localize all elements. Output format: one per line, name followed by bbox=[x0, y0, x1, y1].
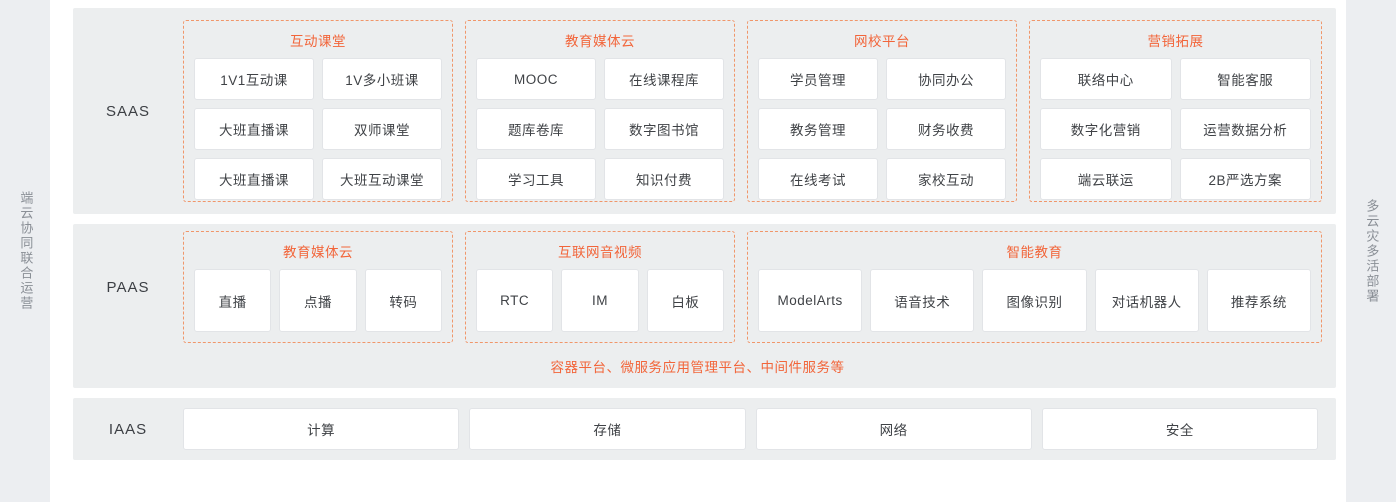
layer-paas-label: PAAS bbox=[73, 279, 183, 296]
group-tiles: MOOC 在线课程库 题库卷库 数字图书馆 学习工具 知识付费 bbox=[476, 58, 724, 200]
group-tiles: ModelArts 语音技术 图像识别 对话机器人 推荐系统 bbox=[758, 269, 1311, 332]
tile[interactable]: 运营数据分析 bbox=[1180, 108, 1312, 150]
layers-stack: SAAS 互动课堂 1V1互动课 1V多小班课 大班直播课 双师课堂 大班直播课… bbox=[63, 0, 1346, 502]
paas-footnote: 容器平台、微服务应用管理平台、中间件服务等 bbox=[73, 350, 1322, 388]
group-title: 网校平台 bbox=[758, 30, 1006, 50]
tile[interactable]: 存储 bbox=[469, 408, 745, 450]
tile[interactable]: 双师课堂 bbox=[322, 108, 442, 150]
layer-iaas-label: IAAS bbox=[73, 421, 183, 438]
tile[interactable]: 白板 bbox=[647, 269, 724, 332]
left-banner-text: 端云协同联合运营 bbox=[14, 191, 37, 311]
tile[interactable]: 1V多小班课 bbox=[322, 58, 442, 100]
layer-paas: PAAS 教育媒体云 直播 点播 转码 互联网音视频 RTC bbox=[73, 224, 1336, 388]
tile[interactable]: 安全 bbox=[1042, 408, 1318, 450]
right-banner-text: 多云灾多活部署 bbox=[1360, 199, 1383, 304]
group-tiles: RTC IM 白板 bbox=[476, 269, 724, 332]
tile[interactable]: 对话机器人 bbox=[1095, 269, 1199, 332]
tile[interactable]: 教务管理 bbox=[758, 108, 878, 150]
group-title: 互动课堂 bbox=[194, 30, 442, 50]
tile[interactable]: 推荐系统 bbox=[1207, 269, 1311, 332]
group-tiles: 1V1互动课 1V多小班课 大班直播课 双师课堂 大班直播课 大班互动课堂 bbox=[194, 58, 442, 200]
group-paas-0: 教育媒体云 直播 点播 转码 bbox=[183, 231, 453, 343]
tile[interactable]: 直播 bbox=[194, 269, 271, 332]
tile[interactable]: 协同办公 bbox=[886, 58, 1006, 100]
group-tiles: 联络中心 智能客服 数字化营销 运营数据分析 端云联运 2B严选方案 bbox=[1040, 58, 1311, 200]
group-title: 教育媒体云 bbox=[194, 241, 442, 261]
tile[interactable]: 网络 bbox=[756, 408, 1032, 450]
tile[interactable]: 在线考试 bbox=[758, 158, 878, 200]
layer-saas-groups: 互动课堂 1V1互动课 1V多小班课 大班直播课 双师课堂 大班直播课 大班互动… bbox=[183, 20, 1322, 202]
group-saas-0: 互动课堂 1V1互动课 1V多小班课 大班直播课 双师课堂 大班直播课 大班互动… bbox=[183, 20, 453, 202]
tile[interactable]: 联络中心 bbox=[1040, 58, 1172, 100]
layer-iaas-tiles: 计算 存储 网络 安全 bbox=[183, 408, 1322, 450]
tile[interactable]: 语音技术 bbox=[870, 269, 974, 332]
group-saas-2: 网校平台 学员管理 协同办公 教务管理 财务收费 在线考试 家校互动 bbox=[747, 20, 1017, 202]
tile[interactable]: 大班直播课 bbox=[194, 158, 314, 200]
tile[interactable]: IM bbox=[561, 269, 638, 332]
tile[interactable]: 点播 bbox=[279, 269, 356, 332]
tile[interactable]: 数字化营销 bbox=[1040, 108, 1172, 150]
group-paas-2: 智能教育 ModelArts 语音技术 图像识别 对话机器人 推荐系统 bbox=[747, 231, 1322, 343]
group-title: 教育媒体云 bbox=[476, 30, 724, 50]
group-tiles: 直播 点播 转码 bbox=[194, 269, 442, 332]
architecture-diagram: 端云协同联合运营 SAAS 互动课堂 1V1互动课 1V多小班课 大班直播课 双… bbox=[0, 0, 1396, 502]
tile[interactable]: ModelArts bbox=[758, 269, 862, 332]
tile[interactable]: 大班互动课堂 bbox=[322, 158, 442, 200]
layer-saas: SAAS 互动课堂 1V1互动课 1V多小班课 大班直播课 双师课堂 大班直播课… bbox=[73, 8, 1336, 214]
layer-paas-groups: 教育媒体云 直播 点播 转码 互联网音视频 RTC IM 白板 bbox=[183, 231, 1322, 343]
layer-paas-row: PAAS 教育媒体云 直播 点播 转码 互联网音视频 RTC bbox=[73, 224, 1322, 350]
group-title: 互联网音视频 bbox=[476, 241, 724, 261]
group-saas-1: 教育媒体云 MOOC 在线课程库 题库卷库 数字图书馆 学习工具 知识付费 bbox=[465, 20, 735, 202]
left-vertical-banner: 端云协同联合运营 bbox=[0, 0, 50, 502]
group-tiles: 学员管理 协同办公 教务管理 财务收费 在线考试 家校互动 bbox=[758, 58, 1006, 200]
layer-iaas: IAAS 计算 存储 网络 安全 bbox=[73, 398, 1336, 460]
group-saas-3: 营销拓展 联络中心 智能客服 数字化营销 运营数据分析 端云联运 2B严选方案 bbox=[1029, 20, 1322, 202]
tile[interactable]: 数字图书馆 bbox=[604, 108, 724, 150]
layer-saas-label: SAAS bbox=[73, 103, 183, 120]
tile[interactable]: 知识付费 bbox=[604, 158, 724, 200]
tile[interactable]: 家校互动 bbox=[886, 158, 1006, 200]
tile[interactable]: 财务收费 bbox=[886, 108, 1006, 150]
tile[interactable]: 转码 bbox=[365, 269, 442, 332]
group-title: 智能教育 bbox=[758, 241, 1311, 261]
tile[interactable]: 2B严选方案 bbox=[1180, 158, 1312, 200]
group-title: 营销拓展 bbox=[1040, 30, 1311, 50]
tile[interactable]: 端云联运 bbox=[1040, 158, 1172, 200]
tile[interactable]: 在线课程库 bbox=[604, 58, 724, 100]
tile[interactable]: 1V1互动课 bbox=[194, 58, 314, 100]
tile[interactable]: 学员管理 bbox=[758, 58, 878, 100]
tile[interactable]: 大班直播课 bbox=[194, 108, 314, 150]
tile[interactable]: RTC bbox=[476, 269, 553, 332]
tile[interactable]: MOOC bbox=[476, 58, 596, 100]
group-paas-1: 互联网音视频 RTC IM 白板 bbox=[465, 231, 735, 343]
tile[interactable]: 题库卷库 bbox=[476, 108, 596, 150]
left-gap bbox=[50, 0, 63, 502]
tile[interactable]: 计算 bbox=[183, 408, 459, 450]
tile[interactable]: 学习工具 bbox=[476, 158, 596, 200]
tile[interactable]: 图像识别 bbox=[982, 269, 1086, 332]
right-vertical-banner: 多云灾多活部署 bbox=[1346, 0, 1396, 502]
tile[interactable]: 智能客服 bbox=[1180, 58, 1312, 100]
